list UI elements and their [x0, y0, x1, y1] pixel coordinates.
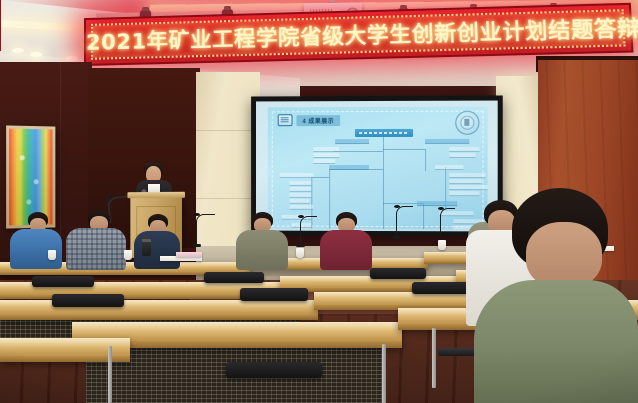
table-leg-1: [108, 346, 112, 403]
table-row-3: [0, 300, 318, 320]
chair-foreground-1[interactable]: [226, 362, 322, 378]
chair-row3-3[interactable]: [412, 282, 474, 294]
mindmap-node: [449, 173, 485, 178]
mindmap-root-node: [355, 129, 413, 137]
mindmap-node: [290, 187, 312, 192]
head: [526, 222, 602, 288]
mindmap-node: [290, 199, 310, 204]
torso: [236, 230, 288, 270]
microphone-base-1: [192, 244, 201, 247]
audience-member-sage-jacket: [474, 188, 638, 403]
downlight-1: [30, 52, 42, 57]
slide-header-number: 4: [302, 119, 306, 125]
chair-row2-1[interactable]: [32, 276, 94, 287]
table-leg-3: [432, 328, 436, 388]
mindmap-node: [290, 181, 312, 186]
mindmap-node: [313, 159, 335, 164]
slide-header-label: 成果展示: [308, 119, 334, 125]
mindmap-node: [435, 165, 463, 170]
paper-cup-3: [296, 248, 304, 258]
mindmap-node: [335, 139, 369, 144]
painting-canvas: [9, 129, 52, 226]
mindmap-node: [449, 147, 479, 152]
slide-section-icon: [278, 114, 293, 126]
paper-cup-4: [438, 240, 446, 250]
mindmap-node: [449, 179, 481, 184]
podium-top: [127, 192, 185, 198]
screen-surface: 4 成果展示: [256, 101, 498, 232]
audience-member-olive-shirt: [236, 212, 288, 266]
paper-cup-2: [124, 250, 132, 260]
table-leg-2: [382, 344, 386, 403]
mindmap-node: [290, 205, 314, 210]
microphone-base-2: [296, 244, 305, 247]
thermos-flask: [142, 236, 151, 256]
slide-header: 4 成果展示: [278, 114, 340, 126]
mindmap-connector: [425, 149, 426, 171]
audience-member-maroon-shirt: [320, 212, 372, 266]
chair-row3-2[interactable]: [240, 288, 308, 301]
documents-2: [176, 252, 202, 257]
torso: [10, 229, 62, 269]
downlight-2: [66, 56, 78, 61]
table-microphone-4: [440, 208, 455, 235]
torso: [134, 231, 180, 269]
mindmap-node: [290, 193, 312, 198]
mindmap-node: [449, 153, 475, 158]
mindmap-connector: [423, 203, 424, 229]
downlight-3: [12, 48, 24, 53]
table-microphone-1: [196, 214, 215, 245]
mindmap-connector: [333, 151, 383, 152]
mindmap-node: [417, 201, 457, 206]
mindmap-node: [313, 153, 339, 158]
mindmap-connector: [311, 177, 329, 178]
mindmap-connector: [383, 137, 384, 229]
mindmap-node: [425, 139, 469, 144]
mindmap-node: [329, 165, 369, 170]
torso: [66, 228, 126, 270]
university-seal-icon: [455, 111, 479, 135]
slide-header-title: 4 成果展示: [296, 115, 340, 126]
conference-room-photo: 2021年矿业工程学院省级大学生创新创业计划结题答辩会 4 成果展示: [0, 0, 638, 403]
table-microphone-2: [300, 216, 317, 245]
microphone-base-3: [392, 236, 401, 239]
chair-row2-3[interactable]: [370, 268, 426, 279]
chair-row3-1[interactable]: [52, 294, 124, 307]
table-microphone-3: [396, 206, 413, 237]
torso: [320, 230, 372, 270]
mindmap-node: [280, 173, 314, 178]
projection-screen: 4 成果展示: [251, 95, 503, 236]
torso: [474, 280, 638, 403]
chair-row2-2[interactable]: [204, 272, 264, 283]
mindmap-connector: [383, 149, 425, 150]
audience-member-plaid-shirt: [66, 210, 126, 266]
mindmap-node: [313, 147, 339, 152]
paper-cup-1: [48, 250, 56, 260]
banner-side-frame: [0, 0, 1, 51]
